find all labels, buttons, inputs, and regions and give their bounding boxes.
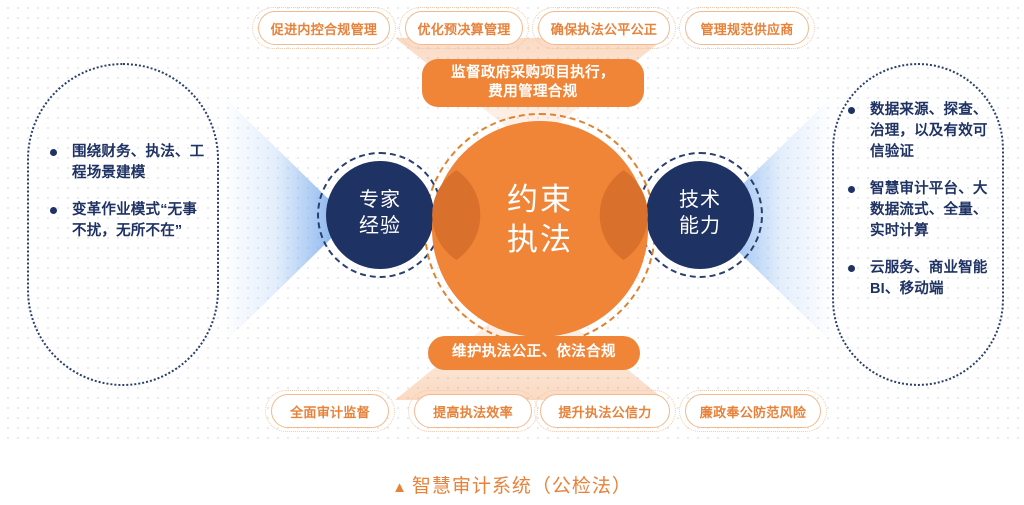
figure-caption: ▲智慧审计系统（公检法） <box>0 471 1024 498</box>
top-pill-2[interactable]: 优化预决算管理 <box>405 11 523 45</box>
top-pill-3[interactable]: 确保执法公平公正 <box>538 11 670 45</box>
bottom-banner: 维护执法公正、依法合规 <box>428 336 640 370</box>
diagram-canvas: 围绕财务、执法、工程场景建模 变革作业模式“无事不扰，无所不在” 数据来源、探查… <box>0 0 1024 505</box>
top-pill-4[interactable]: 管理规范供应商 <box>685 11 809 45</box>
caption-text: 智慧审计系统（公检法） <box>412 476 632 497</box>
center-circle-label: 约束 执法 <box>432 180 648 259</box>
bottom-pill-3[interactable]: 提升执法公信力 <box>540 394 670 428</box>
left-circle-label: 专家 经验 <box>326 188 434 239</box>
top-banner: 监督政府采购项目执行， 费用管理合规 <box>422 59 644 107</box>
bottom-pill-2[interactable]: 提高执法效率 <box>414 394 532 428</box>
top-pill-1[interactable]: 促进内控合规管理 <box>258 11 390 45</box>
bottom-pill-4[interactable]: 廉政奉公防范风险 <box>685 394 821 428</box>
bottom-pill-1[interactable]: 全面审计监督 <box>271 394 389 428</box>
right-circle-label: 技术 能力 <box>646 188 754 239</box>
triangle-icon: ▲ <box>392 479 408 496</box>
